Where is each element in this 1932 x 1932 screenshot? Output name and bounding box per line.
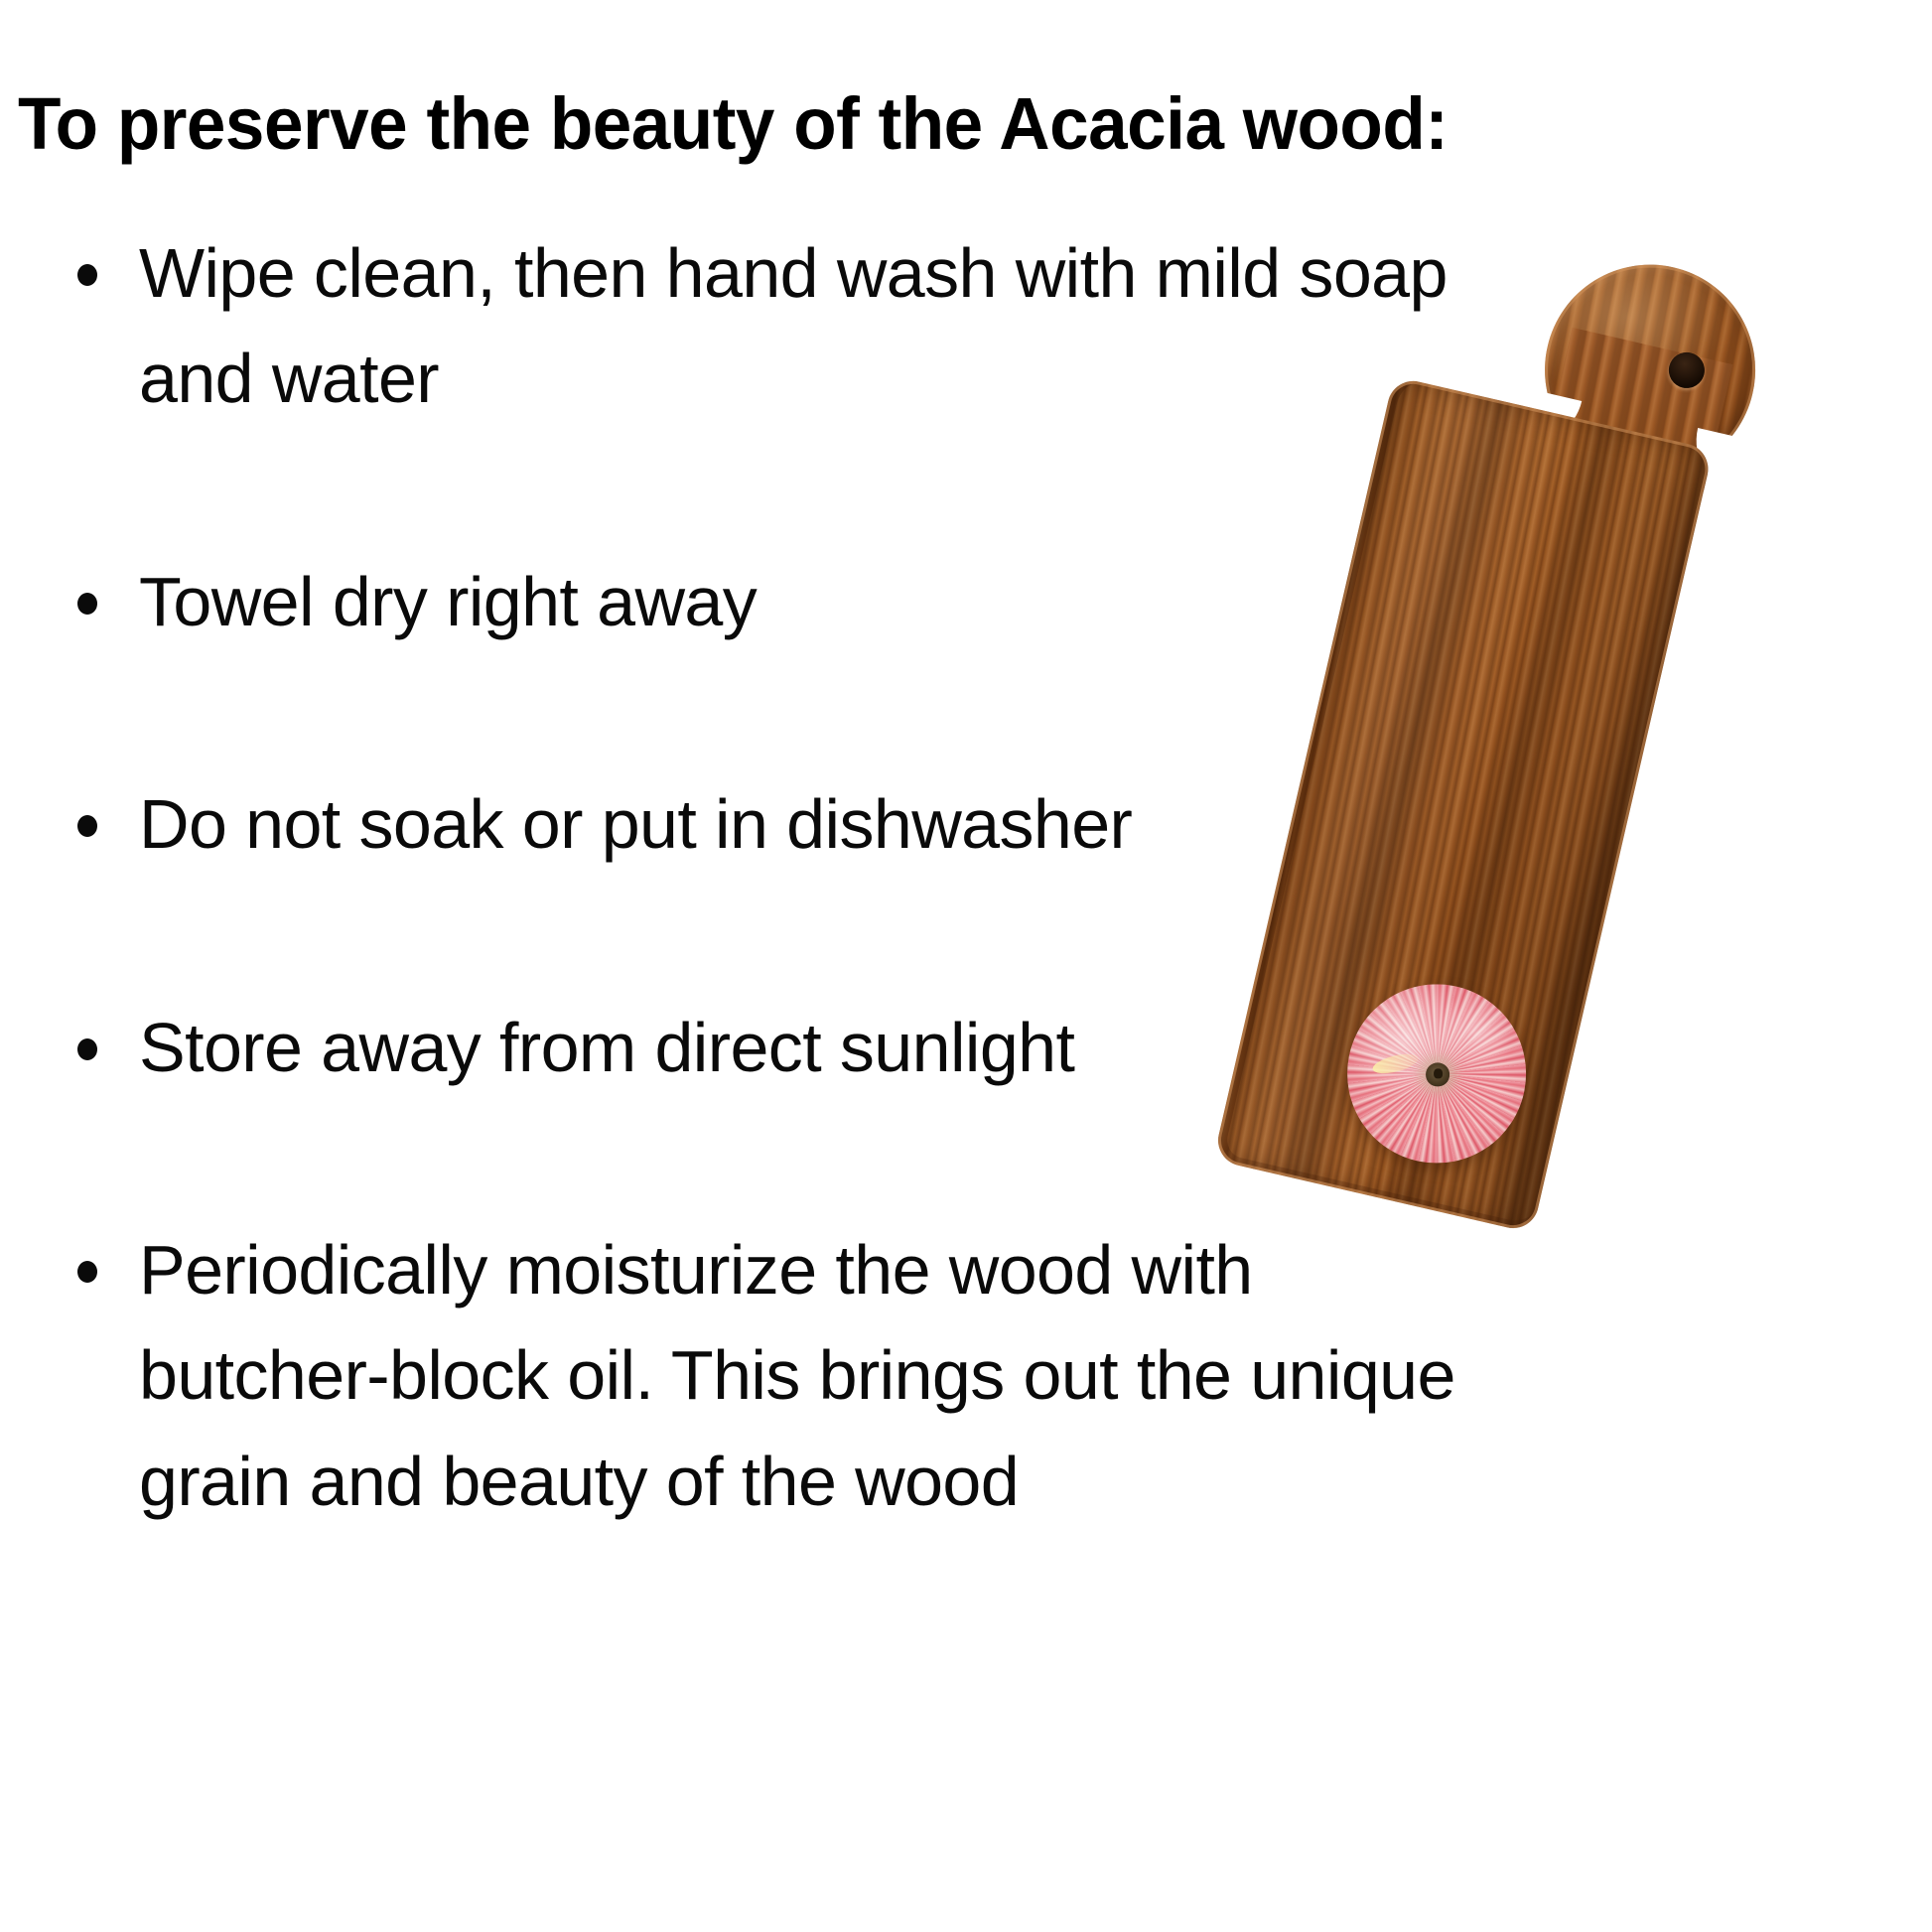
bullet-dot-icon <box>77 593 97 615</box>
list-item-label: Do not soak or put in dishwasher <box>139 771 1588 877</box>
bullet-dot-icon <box>77 1261 97 1283</box>
bullet-dot-icon <box>77 264 97 286</box>
bullet-dot-icon <box>77 1038 97 1060</box>
list-item-label: Store away from direct sunlight <box>139 995 1588 1100</box>
page-title: To preserve the beauty of the Acacia woo… <box>18 85 1829 163</box>
list-item: Towel dry right away <box>69 549 1588 654</box>
list-item-label: Towel dry right away <box>139 549 1588 654</box>
list-item-label: Periodically moisturize the wood with bu… <box>139 1217 1588 1534</box>
list-item: Do not soak or put in dishwasher <box>69 771 1588 877</box>
list-item: Store away from direct sunlight <box>69 995 1588 1100</box>
list-item: Periodically moisturize the wood with bu… <box>69 1217 1588 1534</box>
bullet-dot-icon <box>77 815 97 837</box>
poster-canvas: To preserve the beauty of the Acacia woo… <box>0 0 1932 1932</box>
board-neck-fillet-right <box>1685 428 1754 497</box>
list-item-label: Wipe clean, then hand wash with mild soa… <box>139 220 1588 432</box>
list-item: Wipe clean, then hand wash with mild soa… <box>69 220 1588 432</box>
care-instructions-list: Wipe clean, then hand wash with mild soa… <box>69 220 1588 1534</box>
hanging-hole <box>1665 348 1708 391</box>
